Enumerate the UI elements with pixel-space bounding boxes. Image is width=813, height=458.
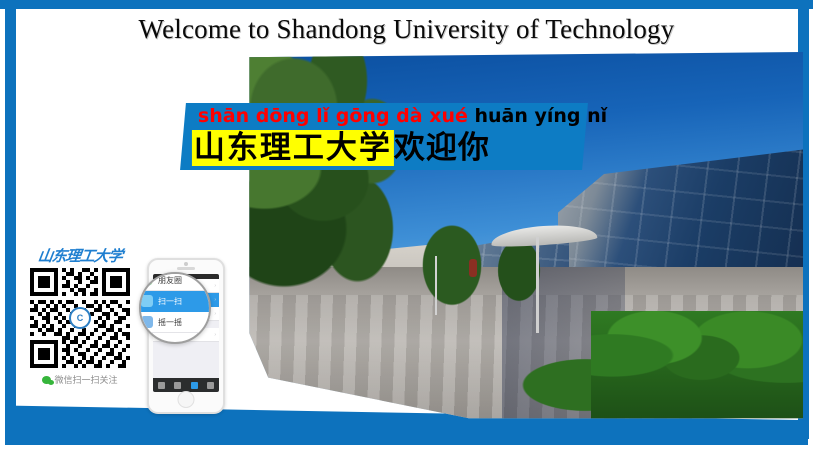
welcome-overlay-band: shān dōng lǐ gōng dà xué huān yíng nǐ 山东… [180, 103, 588, 170]
wechat-icon [42, 376, 51, 384]
magnified-label-scan: 扫一扫 [158, 296, 182, 307]
tab-chats-icon[interactable] [158, 382, 165, 389]
tab-contacts-icon[interactable] [174, 382, 181, 389]
magnified-menu-item-moments[interactable]: 朋友圈 › [139, 272, 211, 291]
chevron-right-icon: › [214, 311, 216, 317]
magnified-menu-item-shake[interactable]: 摇一摇 › [139, 312, 211, 333]
phone-speaker [177, 267, 195, 270]
qr-block: 山东理工大学 [26, 246, 134, 386]
phone-tab-bar[interactable] [153, 378, 219, 392]
tab-discover-icon[interactable] [191, 382, 198, 389]
university-calligraphy-logo: 山东理工大学 [25, 246, 136, 266]
phone-home-button[interactable] [178, 391, 195, 408]
qr-code[interactable]: C [30, 268, 130, 368]
lamp-post-2 [435, 256, 437, 315]
hanzi-university-name: 山东理工大学 [192, 130, 394, 166]
phone-camera [184, 262, 188, 266]
chevron-right-icon: › [214, 297, 216, 303]
slide: Welcome to Shandong University of Techno… [0, 0, 813, 458]
page-title: Welcome to Shandong University of Techno… [0, 14, 813, 45]
magnified-menu-item-scan[interactable]: 扫一扫 › [139, 291, 211, 312]
red-statue [469, 259, 477, 277]
magnified-label-shake: 摇一摇 [158, 317, 182, 328]
magnifier-lens: 朋友圈 › 扫一扫 › 摇一摇 › [139, 272, 211, 344]
pinyin-line: shān dōng lǐ gōng dà xué huān yíng nǐ [198, 105, 607, 127]
chevron-right-icon: › [214, 283, 216, 289]
chevron-right-icon: › [214, 332, 216, 338]
hedge-right [591, 311, 803, 422]
hanzi-welcome-you: 欢迎你 [394, 130, 490, 166]
lamp-post [536, 237, 539, 333]
frame-top-band [0, 0, 813, 9]
pinyin-black-text: huān yíng nǐ [468, 105, 607, 127]
tree-middle [413, 222, 491, 318]
scan-icon [141, 295, 153, 307]
magnified-label-moments: 朋友圈 [158, 275, 182, 286]
qr-center-logo: C [69, 307, 91, 329]
magnifier-content: 朋友圈 › 扫一扫 › 摇一摇 › [139, 272, 211, 333]
qr-caption: 微信扫一扫关注 [26, 373, 134, 386]
shake-icon [141, 316, 153, 328]
hanzi-line: 山东理工大学欢迎你 [192, 130, 490, 166]
tab-me-icon[interactable] [207, 382, 214, 389]
pinyin-red-text: shān dōng lǐ gōng dà xué [198, 105, 468, 127]
frame-left-band [5, 9, 16, 439]
qr-caption-text: 微信扫一扫关注 [54, 376, 117, 386]
university-emblem: C [69, 307, 91, 329]
moments-icon [141, 274, 153, 286]
